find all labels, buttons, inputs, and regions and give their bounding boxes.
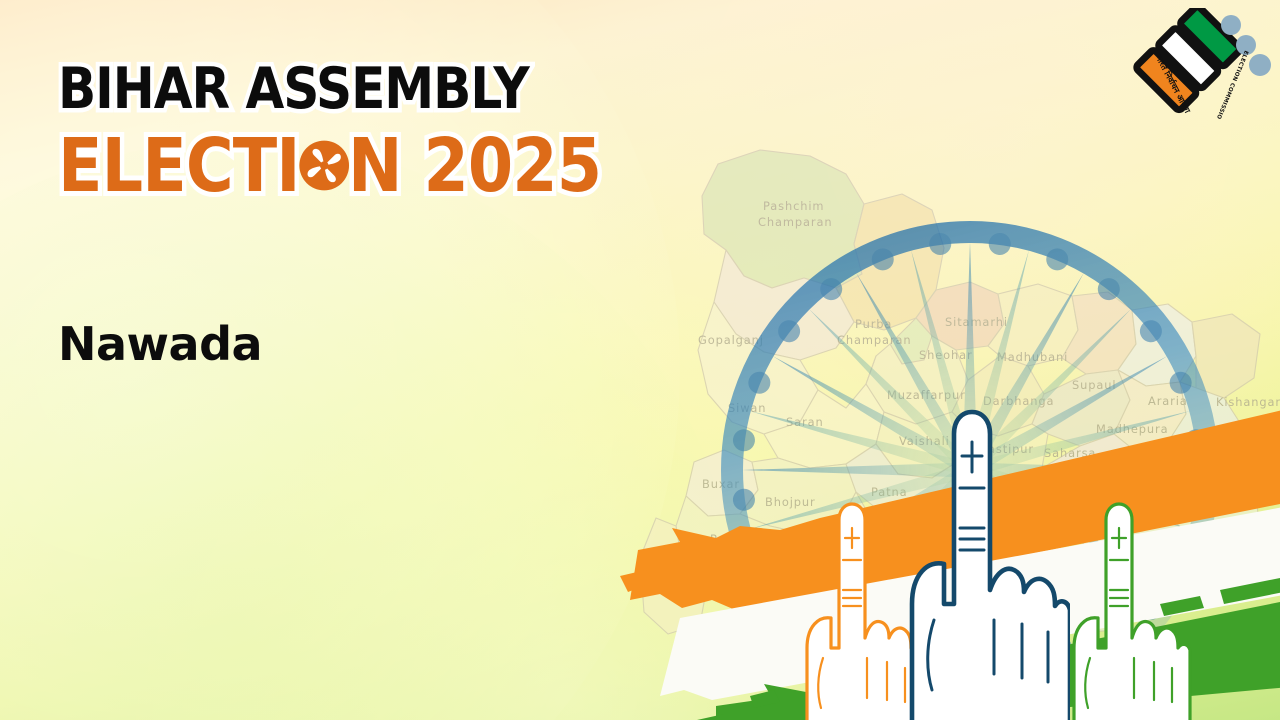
voter-hand-right — [1062, 498, 1192, 720]
headline-block: BIHAR ASSEMBLY ELECTI N 2025 Nawada — [58, 62, 675, 371]
page-title-line1: BIHAR ASSEMBLY — [58, 62, 601, 118]
election-banner: PashchimChamparanPurbaChamparanGopalganj… — [0, 0, 1280, 720]
voter-hand-center — [898, 408, 1070, 720]
election-commission-of-india-logo: भारत निर्वाचन आयोग ELECTION COMMISSION O… — [1120, 8, 1272, 130]
page-title-line2: ELECTI N 2025 — [58, 129, 601, 203]
constituency-name: Nawada — [58, 317, 675, 371]
page-title-line2-suffix: N 2025 — [348, 129, 601, 203]
page-title-line2-prefix: ELECTI — [58, 129, 300, 203]
ballot-mark-icon — [297, 139, 350, 192]
